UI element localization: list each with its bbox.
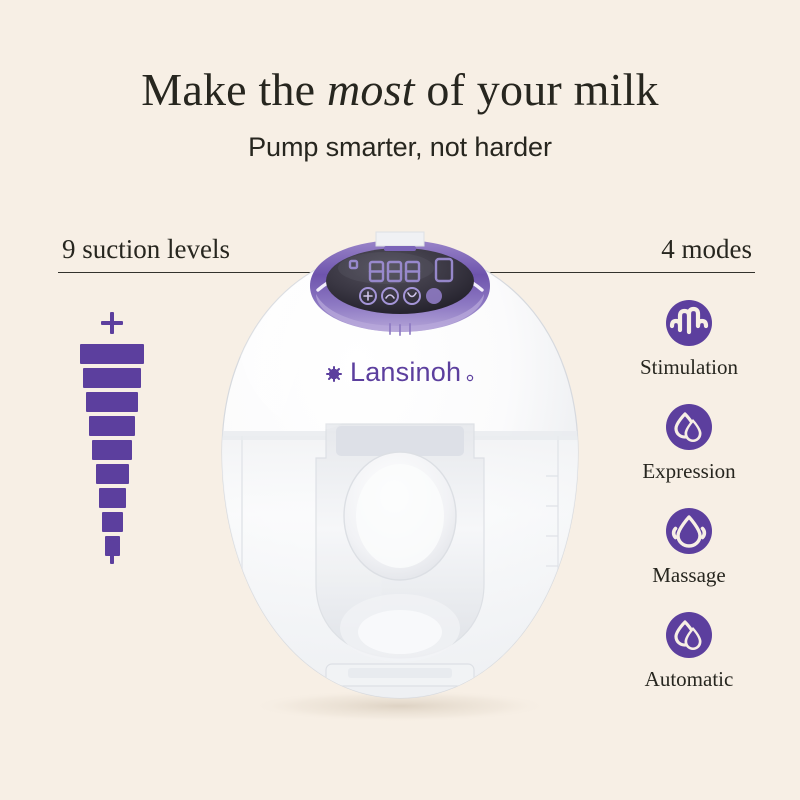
double-droplet-icon	[666, 404, 712, 450]
infographic-canvas: Make the most of your milk Pump smarter,…	[0, 0, 800, 800]
headline-emphasis: most	[327, 64, 415, 115]
suction-level-bars	[74, 344, 150, 560]
headline-part-1: Make the	[141, 64, 327, 115]
page-title: Make the most of your milk	[0, 62, 800, 118]
droplet-vibration-icon	[666, 508, 712, 554]
suction-level-bar-9	[80, 344, 144, 364]
modes-label: 4 modes	[661, 232, 752, 266]
headline-part-2: of your milk	[415, 64, 659, 115]
mode-item-expression[interactable]: Expression	[600, 404, 778, 508]
mode-label: Stimulation	[600, 354, 778, 380]
suction-level-indicator	[74, 308, 150, 578]
modes-list: Stimulation Expression Massage	[600, 300, 778, 716]
suction-level-bar-6	[89, 416, 135, 436]
mode-item-massage[interactable]: Massage	[600, 508, 778, 612]
waveform-icon	[666, 300, 712, 346]
product-image-wearable-breast-pump: Lansinoh	[198, 228, 602, 724]
page-subtitle: Pump smarter, not harder	[0, 130, 800, 164]
suction-level-bar-8	[83, 368, 141, 388]
suction-level-bar-2	[102, 512, 123, 532]
mode-item-automatic[interactable]: Automatic	[600, 612, 778, 716]
double-droplet-icon	[666, 612, 712, 658]
mode-label: Expression	[600, 458, 778, 484]
mode-label: Automatic	[600, 666, 778, 692]
suction-level-bar-4	[96, 464, 129, 484]
svg-text:Lansinoh: Lansinoh	[350, 357, 461, 387]
mode-label: Massage	[600, 562, 778, 588]
suction-level-bar-7	[86, 392, 138, 412]
suction-level-bar-5	[92, 440, 132, 460]
mode-item-stimulation[interactable]: Stimulation	[600, 300, 778, 404]
suction-level-bar-3	[99, 488, 126, 508]
minus-icon	[110, 540, 114, 564]
plus-icon	[101, 312, 123, 334]
